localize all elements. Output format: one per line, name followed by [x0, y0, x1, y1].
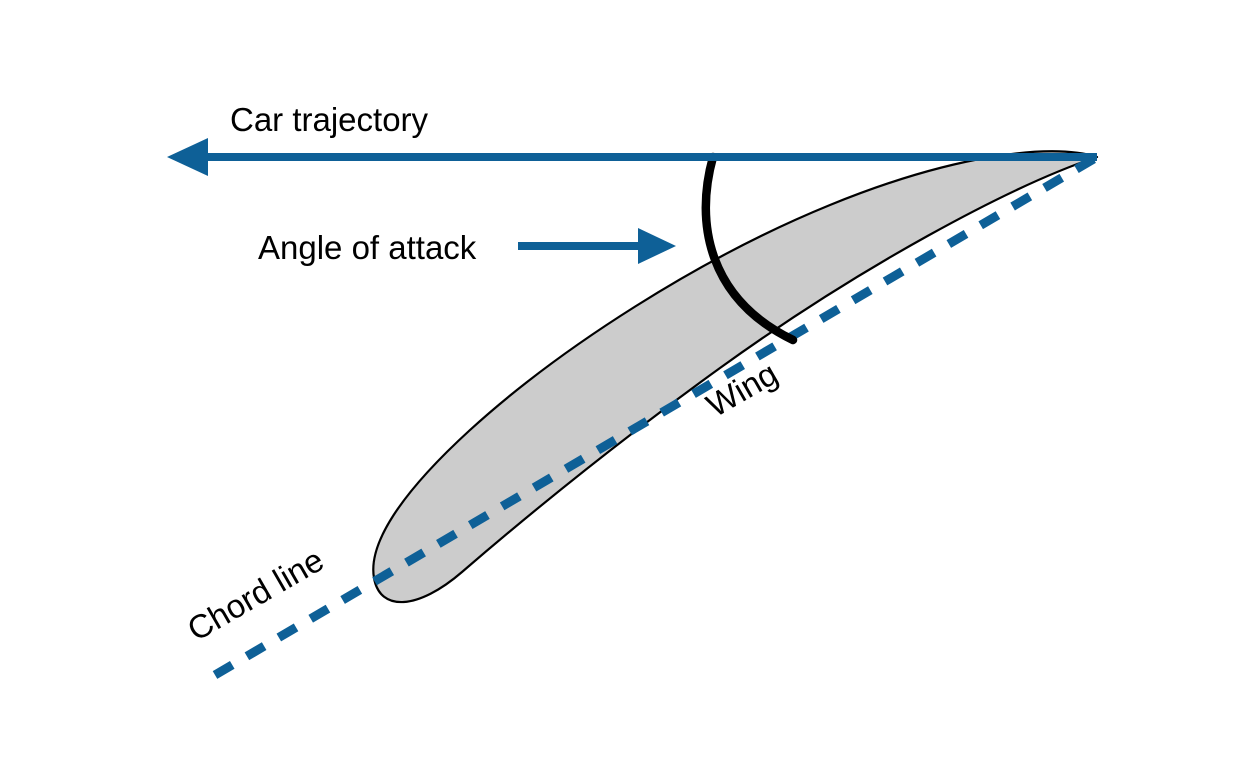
label-angle-of-attack: Angle of attack	[258, 229, 477, 266]
airfoil-diagram: Car trajectory Angle of attack Wing Chor…	[0, 0, 1248, 768]
right-arrow-icon	[638, 228, 676, 264]
label-car-trajectory: Car trajectory	[230, 101, 429, 138]
angle-of-attack-arrow	[518, 228, 676, 264]
label-chord-line: Chord line	[181, 541, 330, 648]
left-arrow-icon	[167, 138, 208, 176]
diagram-canvas: Car trajectory Angle of attack Wing Chor…	[0, 0, 1248, 768]
